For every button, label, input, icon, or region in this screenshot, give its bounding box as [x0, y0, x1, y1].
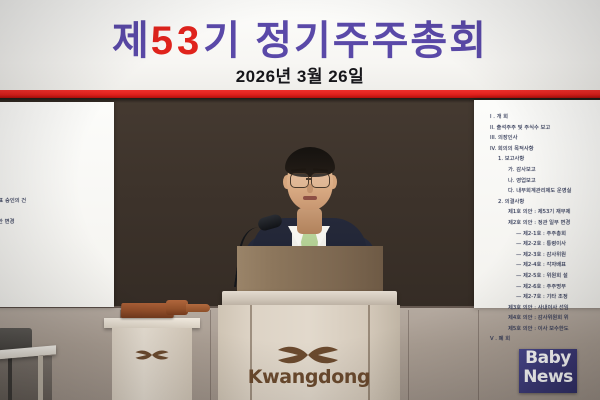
banner-accent-bar: [0, 90, 600, 98]
agenda-line: 나. 영업보고: [486, 176, 572, 187]
agenda-line: III. 의장인사: [486, 133, 572, 144]
wall-panel-divider: [210, 310, 211, 400]
watermark-line-2: News: [519, 367, 577, 387]
podium-brand-wordmark: Kwangdong: [218, 366, 400, 388]
speaker-nose: [307, 184, 313, 193]
watermark-line-1: Baby: [519, 348, 577, 368]
agenda-line: — 제2-3호 : 감사위원: [486, 250, 572, 261]
wall-panel-divider: [478, 310, 479, 400]
speaker-mouth: [303, 196, 317, 200]
speaker-neck: [297, 208, 322, 234]
gavel-table-top: [104, 318, 200, 328]
kwangdong-fish-logo-icon: [268, 344, 348, 366]
agenda-line: II. 출석주주 및 주식수 보고: [486, 123, 572, 134]
agenda-line: 가. 감사보고: [486, 165, 572, 176]
gavel-table-body: [112, 328, 192, 400]
agenda-line: I . 개 회: [486, 112, 572, 123]
agenda-line: 다. 내부회계관리제도 운영실: [486, 186, 572, 197]
agenda-line: 제3호 의안 : 사내이사 선임: [486, 303, 572, 314]
banner-title-prefix: 제: [112, 19, 151, 63]
gavel-head: [166, 300, 188, 315]
proj-line: 포함] 및 연결재무제표 승인의 건: [0, 196, 26, 207]
right-projection-agenda: I . 개 회II. 출석주주 및 주식수 보고III. 의장인사IV. 회의의…: [486, 112, 572, 345]
podium-desk-top: [222, 291, 397, 305]
podium-column: [237, 246, 383, 292]
proj-line: 결전 대한 방식에 대한 변경: [0, 217, 26, 228]
event-banner: 제53기 정기주주총회 2026년 3월 26일: [0, 0, 600, 90]
proj-line: 건(후보자 : 이대원): [0, 248, 26, 259]
glasses-bridge: [306, 178, 312, 180]
agenda-line: 제5호 의안 : 이사 보수한도: [486, 324, 572, 335]
agenda-line: V . 폐 회: [486, 334, 572, 345]
foreground-chair-leg: [8, 354, 12, 400]
agenda-line: — 제2-6호 : 주주명부: [486, 282, 572, 293]
banner-title-suffix: 기 정기주주총회: [203, 19, 488, 63]
agenda-line: 2. 의결사항: [486, 197, 572, 208]
left-projection-text: 포함] 및 연결재무제표 승인의 건 사 방식에 대한 변경 결전 대한 방식에…: [0, 196, 26, 258]
agenda-line: 1. 보고사항: [486, 154, 572, 165]
agenda-line: — 제2-7호 : 기타 조정: [486, 292, 572, 303]
agenda-line: 제4호 의안 : 감사위원회 위: [486, 313, 572, 324]
foreground-table-leg: [38, 356, 43, 400]
kwangdong-fish-logo-icon: [130, 348, 174, 362]
agenda-line: — 제2-2호 : 통령이사: [486, 239, 572, 250]
agenda-line: 제2호 의안 : 정관 일부 변경: [486, 218, 572, 229]
glasses-lens-right: [311, 173, 330, 188]
agenda-line: 제1호 의안 : 제53기 재무제: [486, 207, 572, 218]
banner-title: 제53기 정기주주총회: [0, 8, 600, 66]
agenda-line: IV. 회의의 목적사항: [486, 144, 572, 155]
banner-title-number: 53: [151, 19, 204, 63]
banner-date: 2026년 3월 26일: [0, 62, 600, 87]
photo-scene: 제53기 정기주주총회 2026년 3월 26일 포함] 및 연결재무제표 승인…: [0, 0, 600, 400]
agenda-line: — 제2-5호 : 위원회 설: [486, 271, 572, 282]
agenda-line: — 제2-4호 : 각자배표: [486, 260, 572, 271]
agenda-line: — 제2-1호 : 주주총회: [486, 229, 572, 240]
gavel-handle: [186, 304, 210, 312]
wall-panel-divider: [408, 310, 409, 400]
proj-line: 사 방식에 대한 변경: [0, 207, 26, 218]
